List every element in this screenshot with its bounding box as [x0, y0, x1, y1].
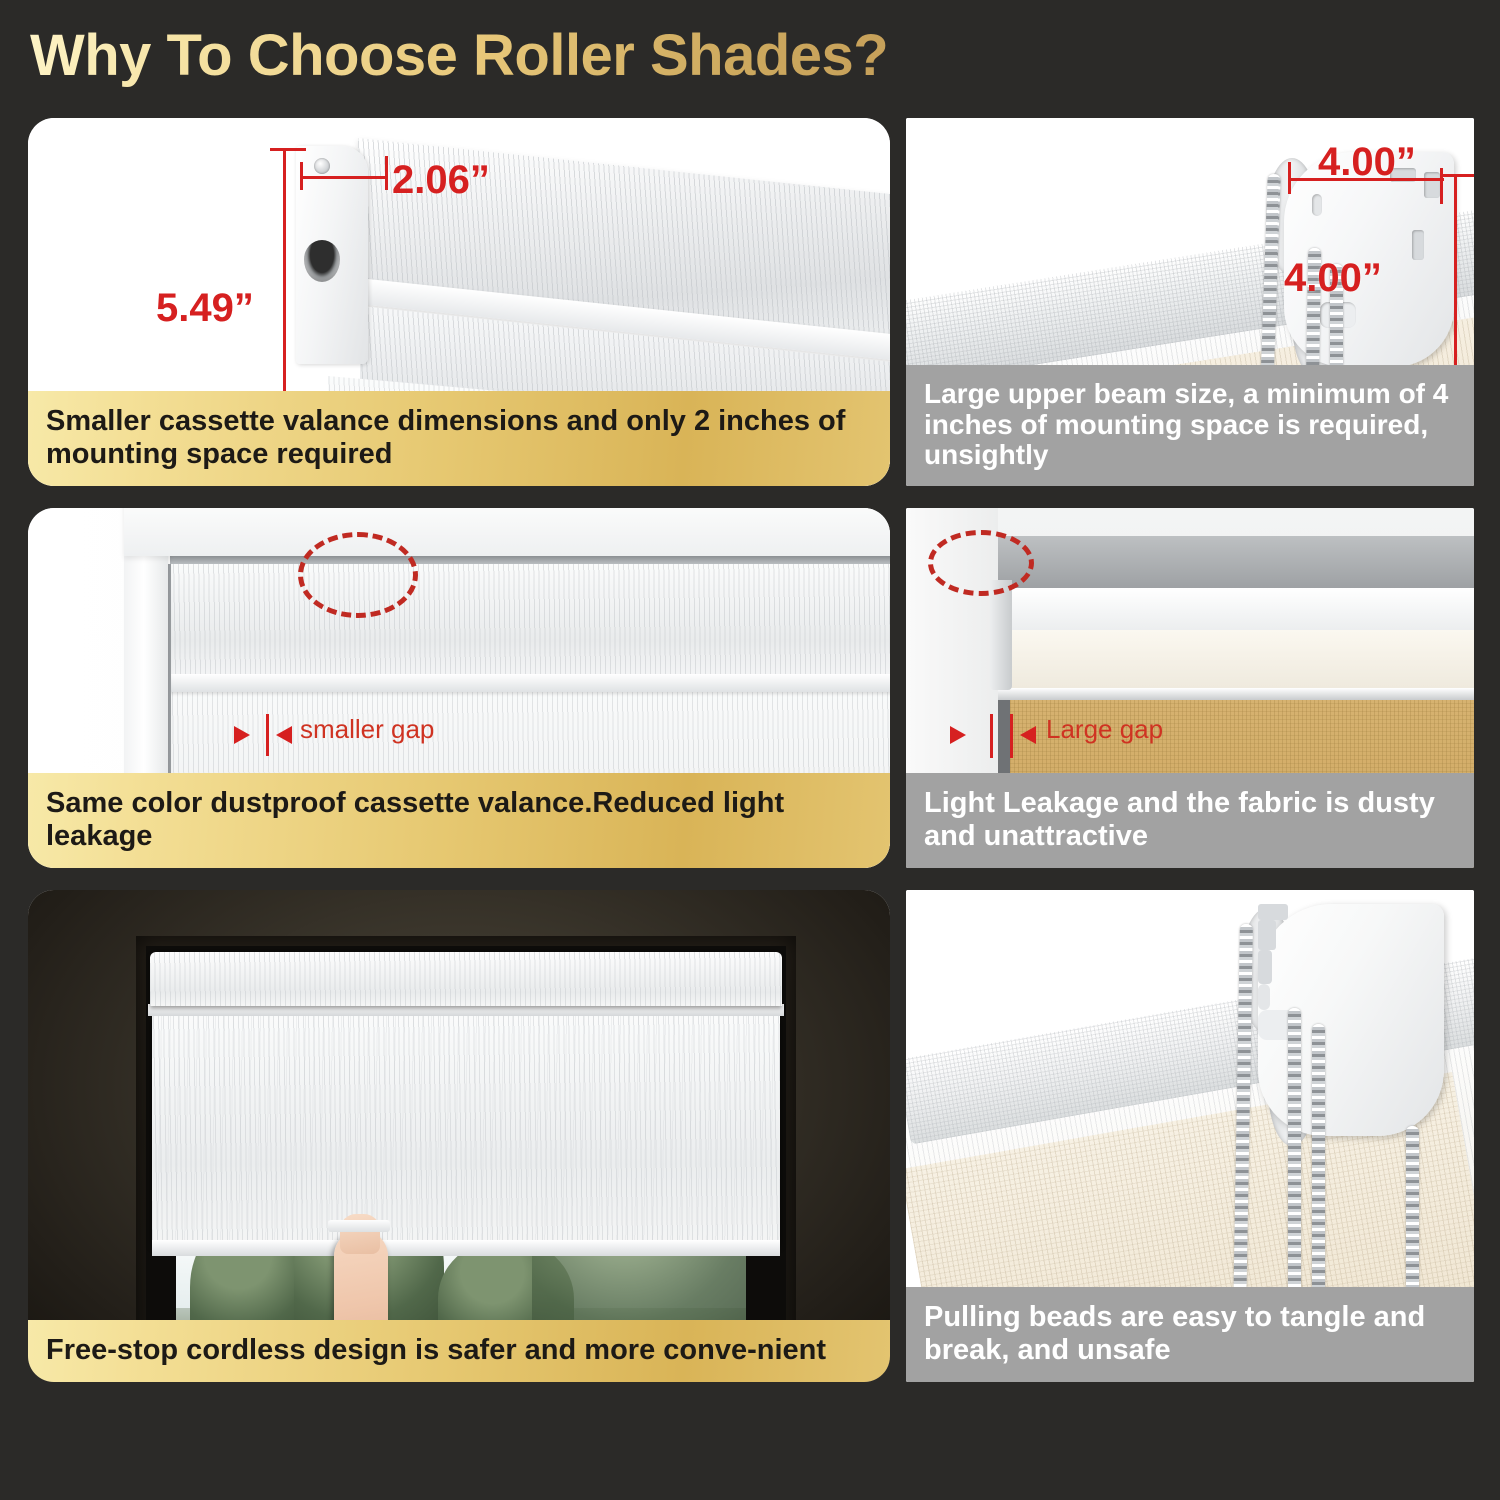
large-gap-label: Large gap: [1046, 714, 1163, 745]
window-frame-top: [124, 508, 890, 556]
gap-arrow-right-icon: [276, 726, 292, 744]
caption-dustproof-valance: Same color dustproof cassette valance.Re…: [28, 773, 890, 868]
beam-width-label: 4.00”: [1318, 140, 1416, 185]
smaller-gap-label: smaller gap: [300, 714, 434, 745]
large-gap-arrow-left-icon: [950, 726, 966, 744]
beam-bottom-rail: [998, 688, 1474, 700]
width-dimension-tick-left: [300, 162, 303, 190]
caption-light-leakage: Light Leakage and the fabric is dusty an…: [906, 773, 1474, 868]
beam-width-tick-left: [1288, 162, 1291, 194]
corner-highlight-circle-icon: [928, 530, 1034, 596]
large-gap-arrow-right-icon: [1020, 726, 1036, 744]
caption-cassette-valance: Smaller cassette valance dimensions and …: [28, 391, 890, 486]
bracket-slot-2: [1424, 172, 1440, 198]
bracket-slot-4: [1312, 194, 1322, 216]
height-dimension-tick-top: [270, 148, 306, 151]
shade-pull-tab: [328, 1220, 390, 1232]
beam-top-face: [998, 536, 1474, 588]
bracket-slot-1: [1258, 904, 1288, 920]
mid-rail-shape: [170, 674, 890, 692]
height-dimension-label: 5.49”: [156, 286, 254, 331]
panel-large-upper-beam: 4.00” 4.00” Large upper beam size, a min…: [906, 118, 1474, 486]
caption-cordless-design: Free-stop cordless design is safer and m…: [28, 1320, 890, 1382]
endcap-screw-top-icon: [314, 158, 330, 174]
cassette-valance-shape: [150, 952, 782, 1006]
seam-highlight-circle-icon: [298, 532, 418, 618]
infographic-root: Why To Choose Roller Shades? 2.06” 5.49”…: [0, 0, 1500, 1500]
panel-cassette-valance: 2.06” 5.49” Smaller cassette valance dim…: [28, 118, 890, 486]
gap-marker-line: [266, 714, 269, 756]
large-gap-marker-line-1: [990, 714, 993, 758]
shade-hem-bar: [152, 1240, 780, 1256]
beam-height-label: 4.00”: [1284, 256, 1382, 301]
width-dimension-label: 2.06”: [392, 158, 490, 203]
large-gap-marker-line-2: [1010, 714, 1013, 758]
width-dimension-tick-right: [385, 156, 388, 190]
beam-cream-face: [998, 630, 1474, 688]
panel-pulling-beads: Pulling beads are easy to tangle and bre…: [906, 890, 1474, 1382]
upper-shade-fabric: [170, 564, 890, 674]
beam-white-face: [998, 588, 1474, 630]
beam-height-tick-top: [1440, 174, 1474, 177]
caption-large-upper-beam: Large upper beam size, a minimum of 4 in…: [906, 365, 1474, 486]
gap-arrow-left-icon: [234, 726, 250, 744]
caption-pulling-beads: Pulling beads are easy to tangle and bre…: [906, 1287, 1474, 1382]
bracket-slot-2: [1258, 920, 1276, 950]
bracket-slot-3: [1412, 230, 1424, 260]
width-dimension-line: [300, 176, 388, 179]
panel-cordless-design: Free-stop cordless design is safer and m…: [28, 890, 890, 1382]
beam-height-dimension-line: [1454, 174, 1457, 380]
beam-end-bracket: [990, 580, 1012, 690]
bracket-slot-4: [1258, 984, 1270, 1010]
cordless-window-scene: [28, 890, 890, 1382]
panel-light-leakage: Large gap Light Leakage and the fabric i…: [906, 508, 1474, 868]
roller-shade-fabric: [152, 1016, 780, 1244]
bracket-slot-3: [1258, 950, 1272, 984]
page-title: Why To Choose Roller Shades?: [30, 22, 888, 89]
panel-dustproof-valance: smaller gap Same color dustproof cassett…: [28, 508, 890, 868]
mounting-bracket-shape: [1258, 904, 1444, 1136]
